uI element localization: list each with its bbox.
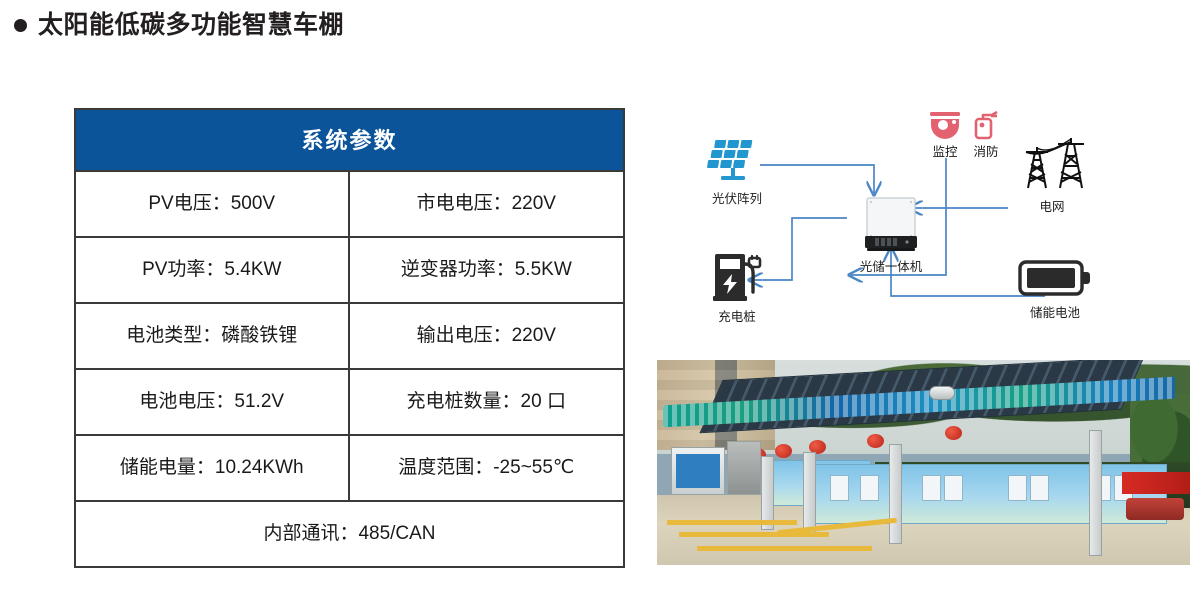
system-architecture-diagram: 光伏阵列 监控 消防 — [655, 100, 1195, 350]
table-cell-pv-voltage: PV电压：500V — [76, 172, 350, 236]
table-row: PV电压：500V 市电电压：220V — [76, 172, 623, 238]
table-cell-battery-type: 电池类型：磷酸铁锂 — [76, 304, 350, 368]
photo-cabinet-door — [676, 454, 720, 488]
diagram-node-battery[interactable]: 储能电池 — [1007, 256, 1103, 321]
photo-camera — [929, 386, 955, 400]
photo-lantern — [867, 434, 884, 448]
table-cell-inverter-power: 逆变器功率：5.5KW — [350, 238, 624, 302]
photo-infoboard-chip — [860, 475, 879, 501]
diagram-node-fire[interactable]: 消防 — [970, 110, 1002, 160]
page-title-text: 太阳能低碳多功能智慧车棚 — [38, 12, 344, 40]
table-row: 内部通讯：485/CAN — [76, 502, 623, 566]
table-row: 电池电压：51.2V 充电桩数量：20 口 — [76, 370, 623, 436]
photo-post — [803, 452, 816, 536]
photo-infoboard-chip — [1030, 475, 1049, 501]
table-cell-internal-comm: 内部通讯：485/CAN — [76, 502, 623, 566]
system-parameters-table: 系统参数 PV电压：500V 市电电压：220V PV功率：5.4KW 逆变器功… — [74, 108, 625, 568]
photo-post — [1089, 430, 1102, 556]
page-title: 太阳能低碳多功能智慧车棚 — [14, 12, 344, 40]
diagram-node-safety-group: 监控 消防 — [928, 110, 1002, 160]
table-row: 电池类型：磷酸铁锂 输出电压：220V — [76, 304, 623, 370]
diagram-label-fire: 消防 — [970, 141, 1002, 160]
carport-photo — [657, 360, 1190, 565]
diagram-node-monitor[interactable]: 监控 — [928, 110, 962, 160]
photo-infoboard-chip — [1008, 475, 1027, 501]
photo-lantern — [945, 426, 962, 440]
table-cell-grid-voltage: 市电电压：220V — [350, 172, 624, 236]
storage-battery-icon — [1017, 256, 1093, 300]
ev-charging-pile-icon — [709, 252, 765, 304]
photo-cabinet — [727, 441, 761, 495]
photo-parking-line — [679, 532, 829, 537]
photo-post — [761, 456, 774, 530]
photo-post — [889, 444, 902, 544]
diagram-label-battery: 储能电池 — [1007, 302, 1103, 321]
photo-cabinet — [671, 447, 725, 495]
table-cell-temperature-range: 温度范围：-25~55℃ — [350, 436, 624, 500]
hybrid-inverter-icon — [861, 196, 921, 254]
photo-lantern — [775, 444, 792, 458]
diagram-label-charger: 充电桩 — [695, 306, 779, 325]
surveillance-camera-icon — [928, 110, 962, 140]
table-cell-pv-power: PV功率：5.4KW — [76, 238, 350, 302]
table-header: 系统参数 — [76, 110, 623, 172]
photo-parking-line — [667, 520, 797, 525]
diagram-label-pv-array: 光伏阵列 — [695, 188, 779, 207]
diagram-label-inverter: 光储一体机 — [851, 256, 931, 275]
diagram-node-inverter[interactable]: 光储一体机 — [851, 196, 931, 275]
diagram-label-monitor: 监控 — [928, 141, 962, 160]
diagram-node-charger[interactable]: 充电桩 — [695, 252, 779, 325]
photo-parking-line — [697, 546, 872, 551]
photo-red-banner — [1122, 472, 1190, 494]
bullet-icon — [14, 19, 27, 32]
solar-panel-icon — [702, 136, 772, 186]
table-cell-battery-voltage: 电池电压：51.2V — [76, 370, 350, 434]
photo-infoboard-chip — [944, 475, 963, 501]
table-row: PV功率：5.4KW 逆变器功率：5.5KW — [76, 238, 623, 304]
diagram-node-grid[interactable]: 电网 — [1010, 132, 1094, 215]
table-cell-storage-capacity: 储能电量：10.24KWh — [76, 436, 350, 500]
table-cell-charger-count: 充电桩数量：20 口 — [350, 370, 624, 434]
power-grid-tower-icon — [1014, 132, 1090, 194]
fire-extinguisher-icon — [970, 110, 1002, 140]
diagram-node-pv-array[interactable]: 光伏阵列 — [695, 136, 779, 207]
photo-infoboard-chip — [922, 475, 941, 501]
table-row: 储能电量：10.24KWh 温度范围：-25~55℃ — [76, 436, 623, 502]
diagram-label-grid: 电网 — [1010, 196, 1094, 215]
photo-scooter — [1126, 498, 1184, 520]
table-cell-output-voltage: 输出电压：220V — [350, 304, 624, 368]
photo-infoboard-chip — [830, 475, 849, 501]
